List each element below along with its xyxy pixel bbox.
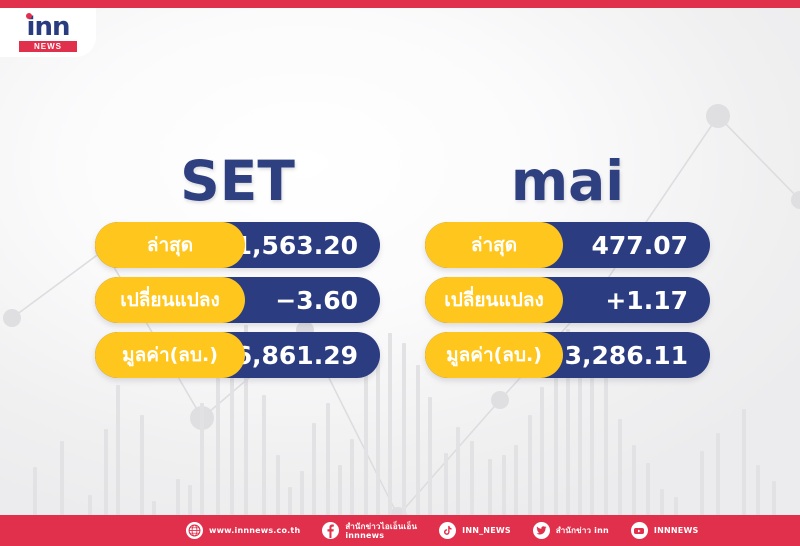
- logo-badge: NEWS: [19, 41, 77, 52]
- footer-facebook-line1: สำนักข่าวไอเอ็นเอ็น: [345, 522, 417, 531]
- background-bar: [33, 467, 37, 515]
- table-row: 1,563.20 ล่าสุด: [95, 222, 380, 268]
- table-row: 3,286.11 มูลค่า(ลบ.): [425, 332, 710, 378]
- background-bar: [276, 455, 280, 515]
- background-bar: [402, 343, 406, 515]
- table-row: −3.60 เปลี่ยนแปลง: [95, 277, 380, 323]
- footer-item-facebook[interactable]: สำนักข่าวไอเอ็นเอ็น innnews: [322, 522, 417, 540]
- footer-facebook-label: สำนักข่าวไอเอ็นเอ็น innnews: [345, 522, 417, 540]
- background-bar: [632, 445, 636, 515]
- background-bar: [470, 441, 474, 515]
- footer-social-bar: www.innnews.co.th สำนักข่าวไอเอ็นเอ็น in…: [0, 515, 800, 546]
- background-bar: [700, 451, 704, 515]
- tiktok-icon: [439, 522, 456, 539]
- background-bar: [502, 455, 506, 515]
- background-bar: [338, 465, 342, 515]
- background-bar: [116, 385, 120, 515]
- facebook-icon: [322, 522, 339, 539]
- background-bar: [646, 463, 650, 515]
- twitter-icon: [533, 522, 550, 539]
- background-bar: [772, 481, 776, 515]
- panel-set: SET 1,563.20 ล่าสุด −3.60 เปลี่ยนแปลง 46…: [95, 140, 380, 387]
- background-bar: [176, 479, 180, 515]
- background-bar: [200, 403, 204, 515]
- background-bar: [514, 445, 518, 515]
- youtube-icon: [631, 522, 648, 539]
- background-bar: [188, 485, 192, 515]
- background-bar: [444, 453, 448, 515]
- globe-icon: [186, 522, 203, 539]
- background-bar: [60, 441, 64, 515]
- background-bar: [674, 497, 678, 515]
- background-bar: [300, 471, 304, 515]
- panel-mai: mai 477.07 ล่าสุด +1.17 เปลี่ยนแปลง 3,28…: [425, 140, 710, 387]
- set-latest-label: ล่าสุด: [95, 222, 245, 268]
- background-bar: [88, 495, 92, 515]
- background-bar: [488, 459, 492, 515]
- set-change-label: เปลี่ยนแปลง: [95, 277, 245, 323]
- top-accent-bar: [0, 0, 800, 8]
- background-bar: [312, 423, 316, 515]
- mai-change-label: เปลี่ยนแปลง: [425, 277, 563, 323]
- stock-summary-card: inn NEWS SET 1,563.20 ล่าสุด −3.60 เปลี่…: [0, 0, 800, 546]
- footer-item-website[interactable]: www.innnews.co.th: [186, 522, 300, 539]
- footer-twitter-label: สำนักข่าว inn: [556, 526, 609, 535]
- table-row: 46,861.29 มูลค่า(ลบ.): [95, 332, 380, 378]
- background-bar: [528, 415, 532, 515]
- background-bar: [416, 365, 420, 515]
- mai-turnover-label: มูลค่า(ลบ.): [425, 332, 563, 378]
- set-turnover-label: มูลค่า(ลบ.): [95, 332, 245, 378]
- background-bar: [756, 465, 760, 515]
- background-bar: [428, 397, 432, 515]
- background-bar: [104, 429, 108, 515]
- footer-item-youtube[interactable]: INNNEWS: [631, 522, 699, 539]
- background-bar: [350, 439, 354, 515]
- background-bar: [742, 409, 746, 515]
- footer-facebook-line2: innnews: [345, 531, 417, 540]
- footer-tiktok-label: INN_NEWS: [462, 526, 511, 535]
- background-bar: [364, 367, 368, 515]
- background-bar: [216, 365, 220, 515]
- logo: inn NEWS: [0, 8, 96, 57]
- background-bar: [152, 501, 156, 515]
- footer-item-twitter[interactable]: สำนักข่าว inn: [533, 522, 609, 539]
- background-bar: [288, 487, 292, 515]
- logo-dot-icon: [26, 13, 32, 19]
- background-bar: [540, 387, 544, 515]
- footer-youtube-label: INNNEWS: [654, 526, 699, 535]
- background-bar: [388, 333, 392, 515]
- footer-website-label: www.innnews.co.th: [209, 526, 300, 535]
- background-bar: [326, 403, 330, 515]
- background-bar: [618, 419, 622, 515]
- background-bar: [140, 415, 144, 515]
- background-bar: [660, 489, 664, 515]
- background-bar: [716, 433, 720, 515]
- table-row: 477.07 ล่าสุด: [425, 222, 710, 268]
- mai-latest-label: ล่าสุด: [425, 222, 563, 268]
- background-bar: [262, 395, 266, 515]
- table-row: +1.17 เปลี่ยนแปลง: [425, 277, 710, 323]
- background-bar: [604, 377, 608, 515]
- panel-title-set: SET: [95, 140, 380, 222]
- footer-item-tiktok[interactable]: INN_NEWS: [439, 522, 511, 539]
- background-bar: [456, 427, 460, 515]
- panel-title-mai: mai: [425, 140, 710, 222]
